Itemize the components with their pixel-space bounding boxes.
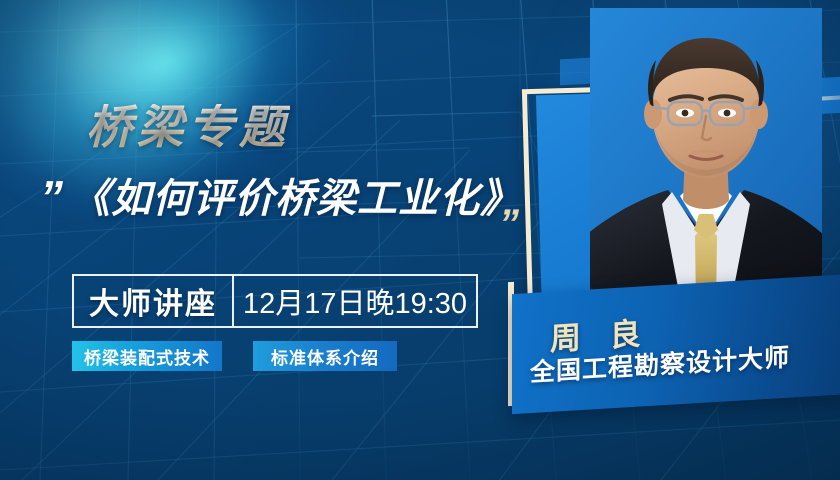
topic-tag-list: 桥梁装配式技术 标准体系介绍 <box>72 341 397 371</box>
portrait-composition: 周 良 全国工程勘察设计大师 <box>500 0 840 480</box>
lecture-label: 大师讲座 <box>89 279 217 323</box>
subtitle-group: ” 《如何评价桥梁工业化》 ” <box>36 168 536 240</box>
lecture-label-cell: 大师讲座 <box>74 276 234 326</box>
page-subtitle: 《如何评价桥梁工业化》 <box>70 170 521 228</box>
lecture-datetime-cell: 12月17日晚19:30 <box>234 276 476 326</box>
topic-tag-2[interactable]: 标准体系介绍 <box>253 341 397 371</box>
quote-close-mark: ” <box>499 204 516 244</box>
speaker-portrait <box>590 8 822 308</box>
topic-tag-1[interactable]: 桥梁装配式技术 <box>72 341 222 371</box>
poster-canvas: 周 良 全国工程勘察设计大师 桥梁专题 ” 《如何评价桥梁工业化》 ” 大师讲座… <box>0 0 840 480</box>
nameplate-content: 周 良 全国工程勘察设计大师 <box>512 274 840 414</box>
quote-open-mark: ” <box>40 174 60 220</box>
lecture-datetime: 12月17日晚19:30 <box>243 280 467 322</box>
lecture-info-box: 大师讲座 12月17日晚19:30 <box>72 274 478 328</box>
page-title: 桥梁专题 <box>86 104 290 150</box>
